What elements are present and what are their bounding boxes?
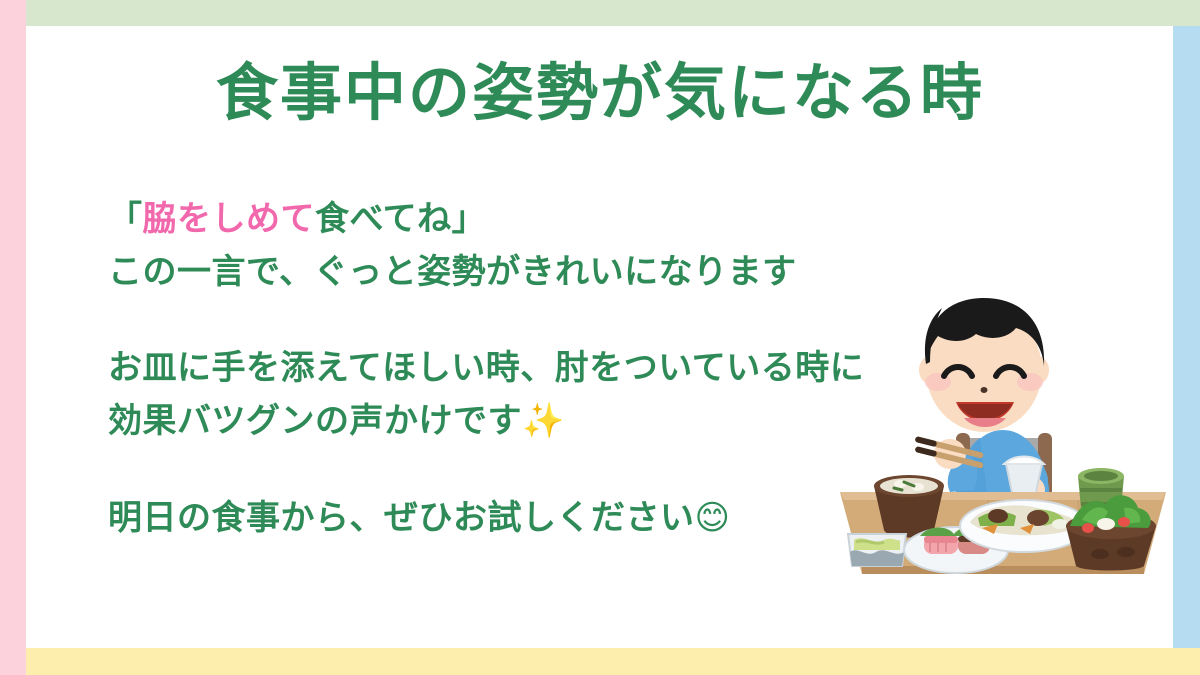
body-line-5-text: 明日の食事から、ぜひお試しください — [108, 499, 695, 537]
body-line-4: 効果バツグンの声かけです✨ — [108, 395, 928, 448]
quote-rest: 食べてね」 — [315, 200, 486, 238]
paragraph-spacer-1 — [108, 298, 928, 342]
body-line-5: 明日の食事から、ぜひお試しください😊 — [108, 492, 928, 545]
slide-title: 食事中の姿勢が気になる時 — [0, 58, 1200, 129]
quote-open: 「 — [108, 200, 143, 238]
bottom-border-band — [26, 648, 1200, 675]
paragraph-spacer-2 — [108, 448, 928, 492]
highlight-phrase: 脇をしめて — [143, 200, 316, 238]
body-line-3: お皿に手を添えてほしい時、肘をついている時に — [108, 342, 928, 395]
body-line-4-text: 効果バツグンの声かけです — [108, 402, 522, 440]
body-line-2: この一言で、ぐっと姿勢がきれいになります — [108, 246, 928, 299]
sparkles-icon: ✨ — [522, 401, 565, 441]
body-copy: 「脇をしめて食べてね」 この一言で、ぐっと姿勢がきれいになります お皿に手を添え… — [108, 193, 928, 544]
slide-canvas: 食事中の姿勢が気になる時 「脇をしめて食べてね」 この一言で、ぐっと姿勢がきれい… — [0, 0, 1200, 675]
body-line-1: 「脇をしめて食べてね」 — [108, 193, 928, 246]
pickles-dish-icon — [848, 534, 906, 566]
top-border-band — [26, 0, 1200, 26]
boy-eating-illustration — [838, 278, 1168, 598]
smiling-face-icon: 😊 — [695, 498, 731, 538]
